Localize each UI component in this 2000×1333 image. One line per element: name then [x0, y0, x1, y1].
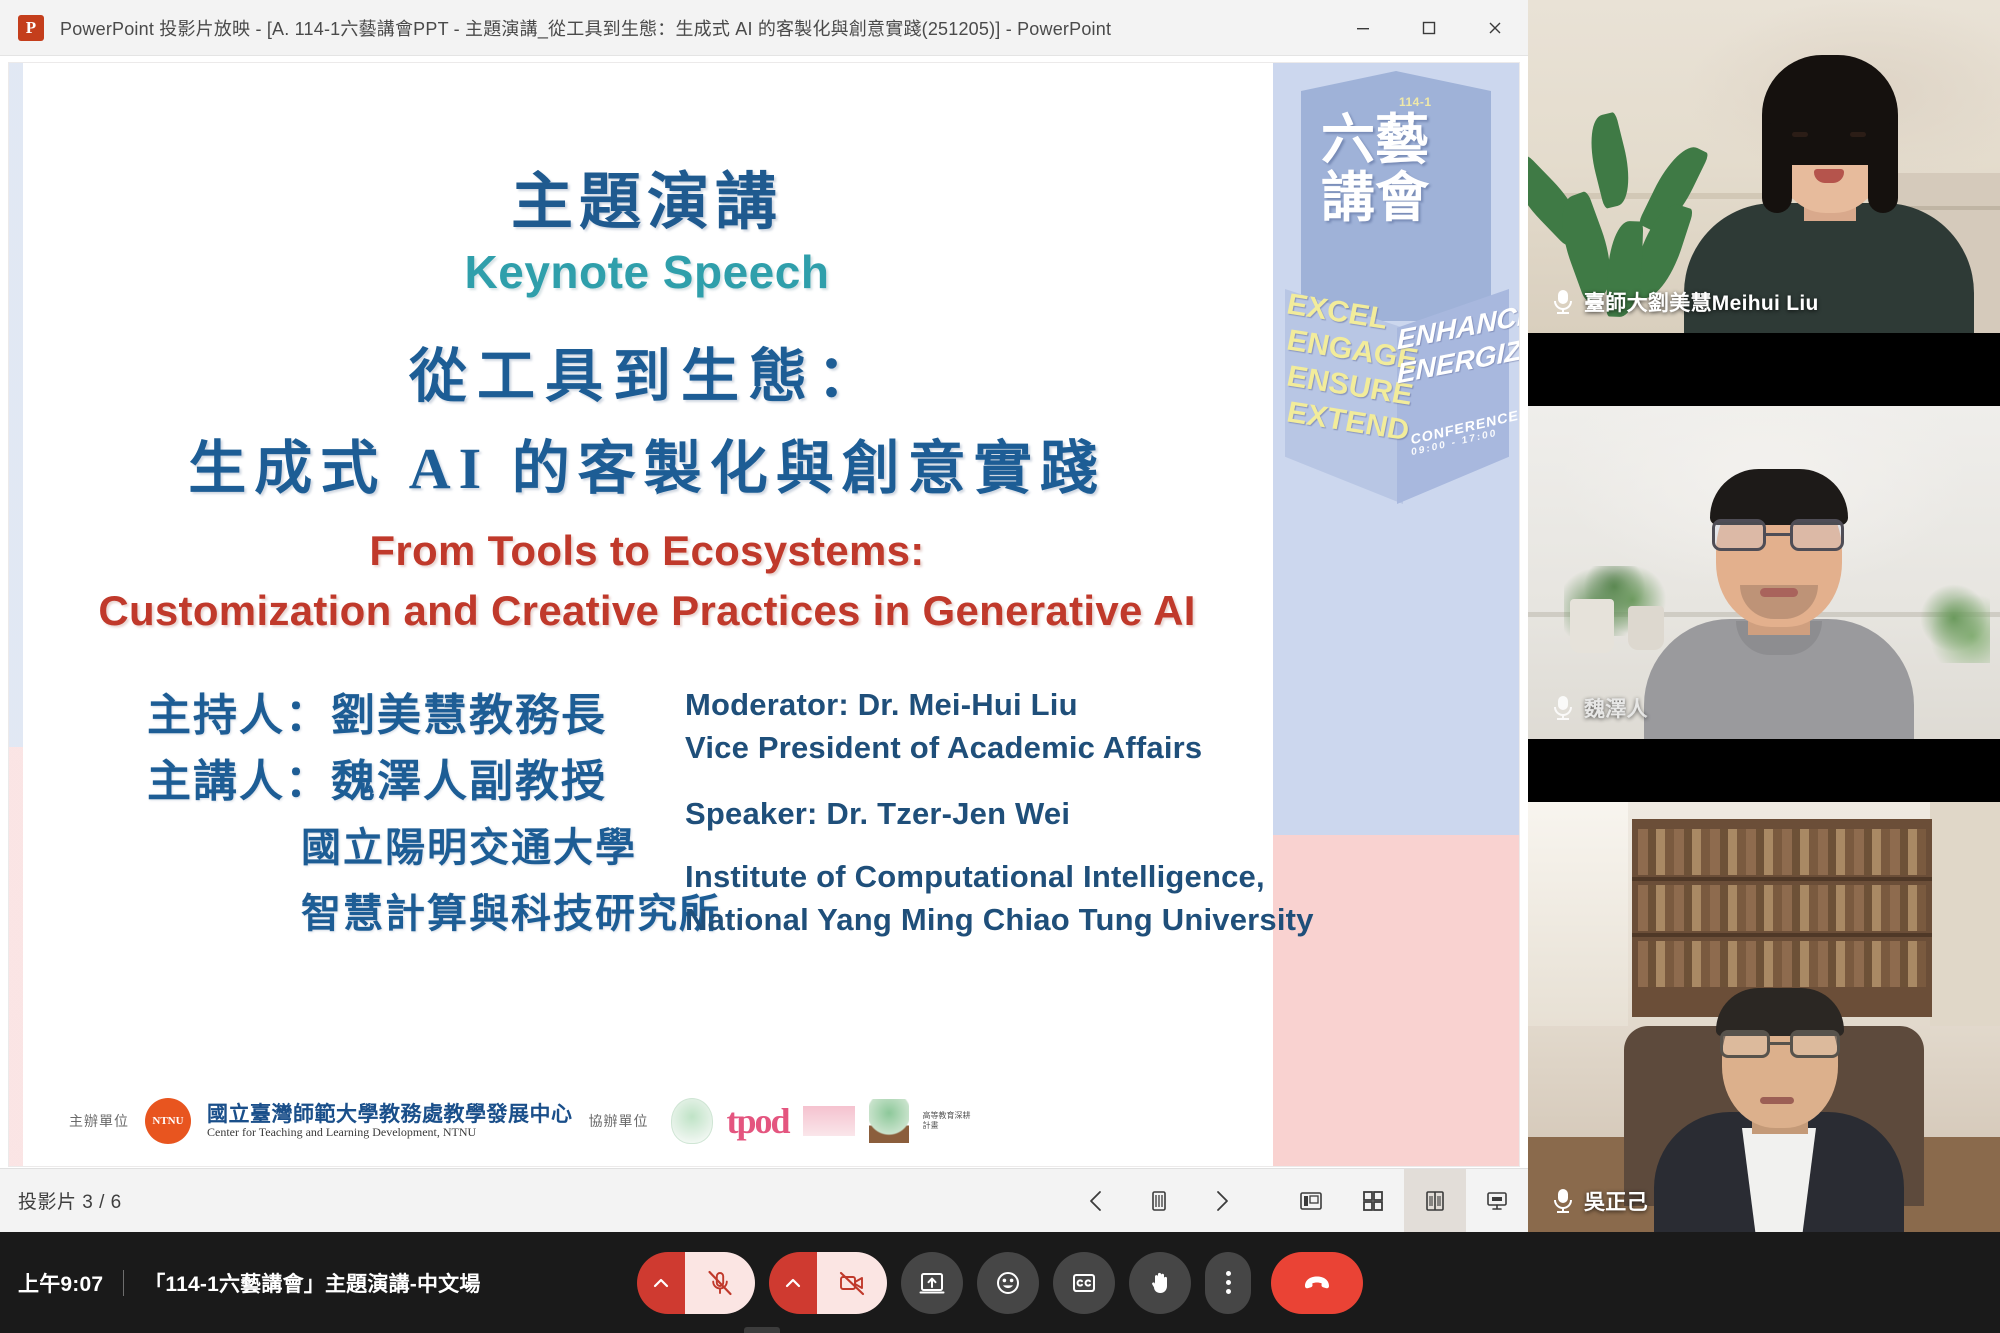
people-chinese-column: 主持人：劉美慧教務長 主講人：魏澤人副教授 國立陽明交通大學 智慧計算與科技研究… — [147, 683, 667, 947]
previous-slide-button[interactable] — [1066, 1169, 1128, 1232]
coorganizer-logos: tpod 高等教育深耕計畫 — [671, 1098, 977, 1144]
screen-share-indicator — [744, 1327, 780, 1333]
slide-canvas: 114-1 六藝 講會 EXCEL ENGAGE ENSURE EXTEND — [8, 62, 1520, 1167]
ntnu-logo-en: Center for Teaching and Learning Develop… — [207, 1126, 573, 1140]
zoom-slide-button[interactable] — [1404, 1169, 1466, 1232]
participant-2-name: 魏澤人 — [1584, 693, 1648, 723]
close-button[interactable] — [1462, 0, 1528, 55]
tree-logo-icon — [869, 1099, 909, 1143]
participant-3-figure — [1654, 982, 1904, 1232]
mic-off-icon[interactable] — [685, 1252, 755, 1314]
slide-title-en: From Tools to Ecosystems: Customization … — [27, 521, 1267, 641]
pen-annotation-button[interactable] — [1128, 1169, 1190, 1232]
banner-edition-label: 114-1 — [1399, 95, 1432, 109]
toolbar-spacer — [1252, 1169, 1280, 1232]
participant-3-video — [1528, 802, 2000, 1232]
ntnu-seal-icon: NTNU — [145, 1098, 191, 1144]
present-screen-button[interactable] — [901, 1252, 963, 1314]
video-participants-panel: 臺師大劉美慧Meihui Liu — [1528, 0, 2000, 1232]
slide-counter: 投影片 3 / 6 — [18, 1187, 122, 1214]
panel-gap-1 — [1528, 333, 2000, 406]
captions-button[interactable] — [1053, 1252, 1115, 1314]
moderator-en-role: Vice President of Academic Affairs — [685, 726, 1314, 769]
conference-banner: 114-1 六藝 講會 EXCEL ENGAGE ENSURE EXTEND — [1273, 63, 1519, 1166]
participant-3-name: 吳正己 — [1584, 1186, 1648, 1216]
slide-title-en-line2: Customization and Creative Practices in … — [27, 581, 1267, 641]
powerpoint-status-bar: 投影片 3 / 6 — [0, 1168, 1528, 1232]
reactions-button[interactable] — [977, 1252, 1039, 1314]
participant-tile-3[interactable]: 吳正己 — [1528, 802, 2000, 1232]
speaker-en-university: National Yang Ming Chiao Tung University — [685, 898, 1314, 941]
speaker-cn-institute: 智慧計算與科技研究所 — [147, 881, 667, 947]
next-slide-button[interactable] — [1190, 1169, 1252, 1232]
eyeglasses-icon — [1720, 1030, 1840, 1060]
end-call-button[interactable] — [1271, 1252, 1363, 1314]
camera-toggle[interactable] — [769, 1252, 887, 1314]
minimize-button[interactable] — [1330, 0, 1396, 55]
speaker-cn-name: 主講人：魏澤人副教授 — [147, 749, 667, 815]
speaker-en-name: Speaker: Dr. Tzer-Jen Wei — [685, 792, 1314, 835]
meeting-control-bar: 上午9:07 「114-1六藝講會」主題演講-中文場 — [0, 1232, 2000, 1333]
screen-root: P PowerPoint 投影片放映 - [A. 114-1六藝講會PPT - … — [0, 0, 2000, 1333]
panel-gap-2 — [1528, 739, 2000, 802]
microphone-toggle[interactable] — [637, 1252, 755, 1314]
meeting-time: 上午9:07 — [18, 1268, 103, 1298]
mic-icon — [1554, 1189, 1572, 1213]
microphone-options-chevron[interactable] — [637, 1252, 685, 1314]
participant-2-name-badge: 魏澤人 — [1546, 689, 1656, 727]
keynote-heading-en: Keynote Speech — [27, 245, 1267, 299]
slide-viewport: 114-1 六藝 講會 EXCEL ENGAGE ENSURE EXTEND — [0, 56, 1528, 1168]
eyeglasses-icon — [1712, 519, 1846, 553]
slide-title-cn-line1: 從工具到生態： — [27, 329, 1267, 413]
slideshow-toolbar — [1066, 1169, 1528, 1232]
powerpoint-app-icon: P — [18, 15, 44, 41]
participant-2-figure — [1644, 439, 1914, 739]
speaker-cn-university: 國立陽明交通大學 — [147, 815, 667, 881]
slide-text-content: 主題演講 Keynote Speech 從工具到生態： 生成式 AI 的客製化與… — [27, 63, 1267, 1166]
keynote-heading-cn: 主題演講 — [27, 151, 1267, 241]
participant-1-name-badge: 臺師大劉美慧Meihui Liu — [1546, 283, 1827, 321]
moderator-en-name: Moderator: Dr. Mei-Hui Liu — [685, 683, 1314, 726]
host-label: 主辦單位 — [69, 1111, 129, 1131]
participant-tile-1[interactable]: 臺師大劉美慧Meihui Liu — [1528, 0, 2000, 333]
tpod-logo-band — [803, 1106, 855, 1136]
ntnu-logo-text: 國立臺灣師範大學教務處教學發展中心 Center for Teaching an… — [207, 1102, 573, 1140]
tree-logo-caption: 高等教育深耕計畫 — [923, 1111, 977, 1130]
mic-icon — [1554, 696, 1572, 720]
camera-options-chevron[interactable] — [769, 1252, 817, 1314]
participant-tile-2[interactable]: 魏澤人 — [1528, 406, 2000, 739]
coorganizer-label: 協辦單位 — [589, 1111, 649, 1131]
more-vertical-icon — [1226, 1271, 1231, 1294]
meeting-info: 上午9:07 「114-1六藝講會」主題演講-中文場 — [0, 1268, 481, 1298]
moderator-cn: 主持人：劉美慧教務長 — [147, 683, 667, 749]
raise-hand-button[interactable] — [1129, 1252, 1191, 1314]
banner-title-cn-line1: 六藝 — [1321, 111, 1471, 169]
camera-off-icon[interactable] — [817, 1252, 887, 1314]
banner-title-cn-line2: 講會 — [1321, 169, 1471, 227]
people-spacer — [685, 769, 1314, 792]
people-english-column: Moderator: Dr. Mei-Hui Liu Vice Presiden… — [685, 683, 1314, 947]
window-titlebar: P PowerPoint 投影片放映 - [A. 114-1六藝講會PPT - … — [0, 0, 1528, 56]
slide-footer-logos: 主辦單位 NTNU 國立臺灣師範大學教務處教學發展中心 Center for T… — [69, 1098, 977, 1144]
powerpoint-window: P PowerPoint 投影片放映 - [A. 114-1六藝講會PPT - … — [0, 0, 1528, 1232]
tpod-logo-icon: tpod — [727, 1106, 789, 1136]
speaker-en-institute: Institute of Computational Intelligence, — [685, 855, 1314, 898]
green-circle-logo-icon — [671, 1098, 713, 1144]
meeting-divider — [123, 1270, 124, 1296]
participant-1-name: 臺師大劉美慧Meihui Liu — [1584, 287, 1819, 317]
ntnu-logo-cn: 國立臺灣師範大學教務處教學發展中心 — [207, 1102, 573, 1126]
participant-3-name-badge: 吳正己 — [1546, 1182, 1656, 1220]
slide-title-en-line1: From Tools to Ecosystems: — [27, 521, 1267, 581]
mic-icon — [1554, 290, 1572, 314]
more-options-button[interactable] — [1205, 1252, 1251, 1314]
banner-title-cn: 六藝 講會 — [1321, 111, 1471, 227]
presenter-view-button[interactable] — [1280, 1169, 1342, 1232]
all-slides-button[interactable] — [1342, 1169, 1404, 1232]
display-settings-button[interactable] — [1466, 1169, 1528, 1232]
window-controls — [1330, 0, 1528, 55]
meeting-controls — [637, 1252, 1363, 1314]
banner-cube-graphic: 114-1 六藝 講會 EXCEL ENGAGE ENSURE EXTEND — [1279, 71, 1511, 511]
window-title: PowerPoint 投影片放映 - [A. 114-1六藝講會PPT - 主題… — [60, 15, 1111, 41]
meeting-title: 「114-1六藝講會」主題演講-中文場 — [144, 1268, 480, 1298]
maximize-button[interactable] — [1396, 0, 1462, 55]
people-block: 主持人：劉美慧教務長 主講人：魏澤人副教授 國立陽明交通大學 智慧計算與科技研究… — [27, 683, 1267, 947]
people-spacer-2 — [685, 835, 1314, 855]
slide-title-cn-line2: 生成式 AI 的客製化與創意實踐 — [27, 421, 1267, 505]
slide-left-accent-bar — [9, 63, 23, 1166]
